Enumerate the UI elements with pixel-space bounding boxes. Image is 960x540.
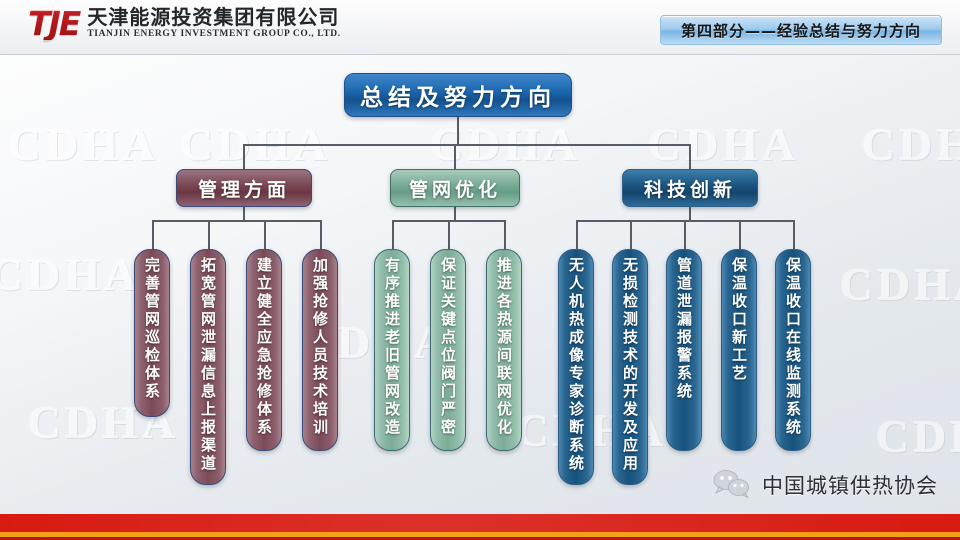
slide-canvas: CDHA CDHA CDHA CDHA CDHA CDHA CDHA CDHA … — [0, 0, 960, 540]
diagram-leaf-node[interactable]: 拓宽管网泄漏信息上报渠道 — [190, 249, 226, 485]
company-name-en: TIANJIN ENERGY INVESTMENT GROUP CO., LTD… — [87, 28, 340, 40]
connector-leaf-drop — [264, 220, 266, 249]
company-logo: TJE 天津能源投资集团有限公司 TIANJIN ENERGY INVESTME… — [28, 6, 341, 40]
connector-leaf-drop — [208, 220, 210, 249]
section-title-text: 第四部分——经验总结与努力方向 — [681, 20, 921, 41]
diagram-leaf-node[interactable]: 保温收口新工艺 — [721, 249, 757, 451]
diagram-root-label: 总结及努力方向 — [360, 78, 556, 112]
diagram-branch-management[interactable]: 管理方面 — [176, 169, 312, 207]
wechat-icon — [712, 468, 752, 502]
diagram-leaf-label: 有序推进老旧管网改造 — [383, 257, 401, 437]
diagram-leaf-label: 保温收口在线监测系统 — [784, 257, 802, 437]
watermark-text: CDHA — [8, 118, 159, 171]
diagram-branch-label: 科技创新 — [644, 175, 736, 202]
watermark-text: CDHA — [876, 410, 960, 463]
connector-leaf-drop — [320, 220, 322, 249]
diagram-leaf-node[interactable]: 保温收口在线监测系统 — [775, 249, 811, 451]
watermark-text: CDHA — [840, 258, 960, 311]
connector-sub-stem — [243, 207, 245, 220]
connector-leaf-drop — [793, 220, 795, 249]
diagram-leaf-label: 完善管网巡检体系 — [143, 257, 161, 401]
diagram-branch-label: 管理方面 — [198, 175, 290, 202]
diagram-leaf-node[interactable]: 管道泄漏报警系统 — [666, 249, 702, 451]
diagram-branch-innovation[interactable]: 科技创新 — [622, 169, 758, 207]
diagram-leaf-label: 加强抢修人员技术培训 — [311, 257, 329, 437]
header-bar: TJE 天津能源投资集团有限公司 TIANJIN ENERGY INVESTME… — [0, 0, 960, 55]
diagram-branch-label: 管网优化 — [409, 175, 501, 202]
connector-branch-drop — [243, 144, 245, 169]
wechat-account-name: 中国城镇供热协会 — [762, 470, 938, 500]
watermark-text: CDHA — [862, 118, 960, 171]
diagram-leaf-label: 推进各热源间联网优化 — [495, 257, 513, 437]
company-name-cn: 天津能源投资集团有限公司 — [87, 6, 340, 28]
diagram-leaf-label: 管道泄漏报警系统 — [675, 257, 693, 401]
connector-sub-bus — [152, 220, 320, 222]
diagram-leaf-label: 拓宽管网泄漏信息上报渠道 — [199, 257, 217, 473]
diagram-leaf-node[interactable]: 建立健全应急抢修体系 — [246, 249, 282, 451]
connector-sub-stem — [689, 207, 691, 220]
connector-leaf-drop — [504, 220, 506, 249]
connector-leaf-drop — [392, 220, 394, 249]
connector-branch-drop — [689, 144, 691, 169]
diagram-branch-pipenetwork[interactable]: 管网优化 — [390, 169, 520, 207]
diagram-leaf-node[interactable]: 无损检测技术的开发及应用 — [612, 249, 648, 485]
diagram-leaf-node[interactable]: 保证关键点位阀门严密 — [430, 249, 466, 451]
connector-branch-drop — [454, 144, 456, 169]
diagram-leaf-node[interactable]: 完善管网巡检体系 — [134, 249, 170, 417]
connector-leaf-drop — [576, 220, 578, 249]
watermark-text: CDHA — [0, 248, 141, 301]
diagram-leaf-node[interactable]: 加强抢修人员技术培训 — [302, 249, 338, 451]
diagram-leaf-label: 无损检测技术的开发及应用 — [621, 257, 639, 473]
connector-root-stem — [457, 117, 459, 144]
diagram-leaf-label: 建立健全应急抢修体系 — [255, 257, 273, 437]
connector-leaf-drop — [684, 220, 686, 249]
connector-main-bus — [243, 144, 691, 146]
connector-sub-stem — [454, 207, 456, 220]
diagram-root-node[interactable]: 总结及努力方向 — [344, 73, 572, 117]
diagram-leaf-node[interactable]: 有序推进老旧管网改造 — [374, 249, 410, 451]
section-title-badge: 第四部分——经验总结与努力方向 — [660, 15, 942, 45]
diagram-leaf-label: 保证关键点位阀门严密 — [439, 257, 457, 437]
diagram-leaf-label: 保温收口新工艺 — [730, 257, 748, 383]
footer-bar-sheen — [0, 514, 960, 532]
tje-logo-mark: TJE — [28, 7, 87, 40]
diagram-leaf-node[interactable]: 无人机热成像专家诊断系统 — [558, 249, 594, 485]
connector-leaf-drop — [448, 220, 450, 249]
wechat-footer: 中国城镇供热协会 — [712, 468, 938, 502]
footer-bar — [0, 514, 960, 540]
connector-leaf-drop — [739, 220, 741, 249]
diagram-leaf-node[interactable]: 推进各热源间联网优化 — [486, 249, 522, 451]
connector-leaf-drop — [630, 220, 632, 249]
diagram-leaf-label: 无人机热成像专家诊断系统 — [567, 257, 585, 473]
connector-leaf-drop — [152, 220, 154, 249]
